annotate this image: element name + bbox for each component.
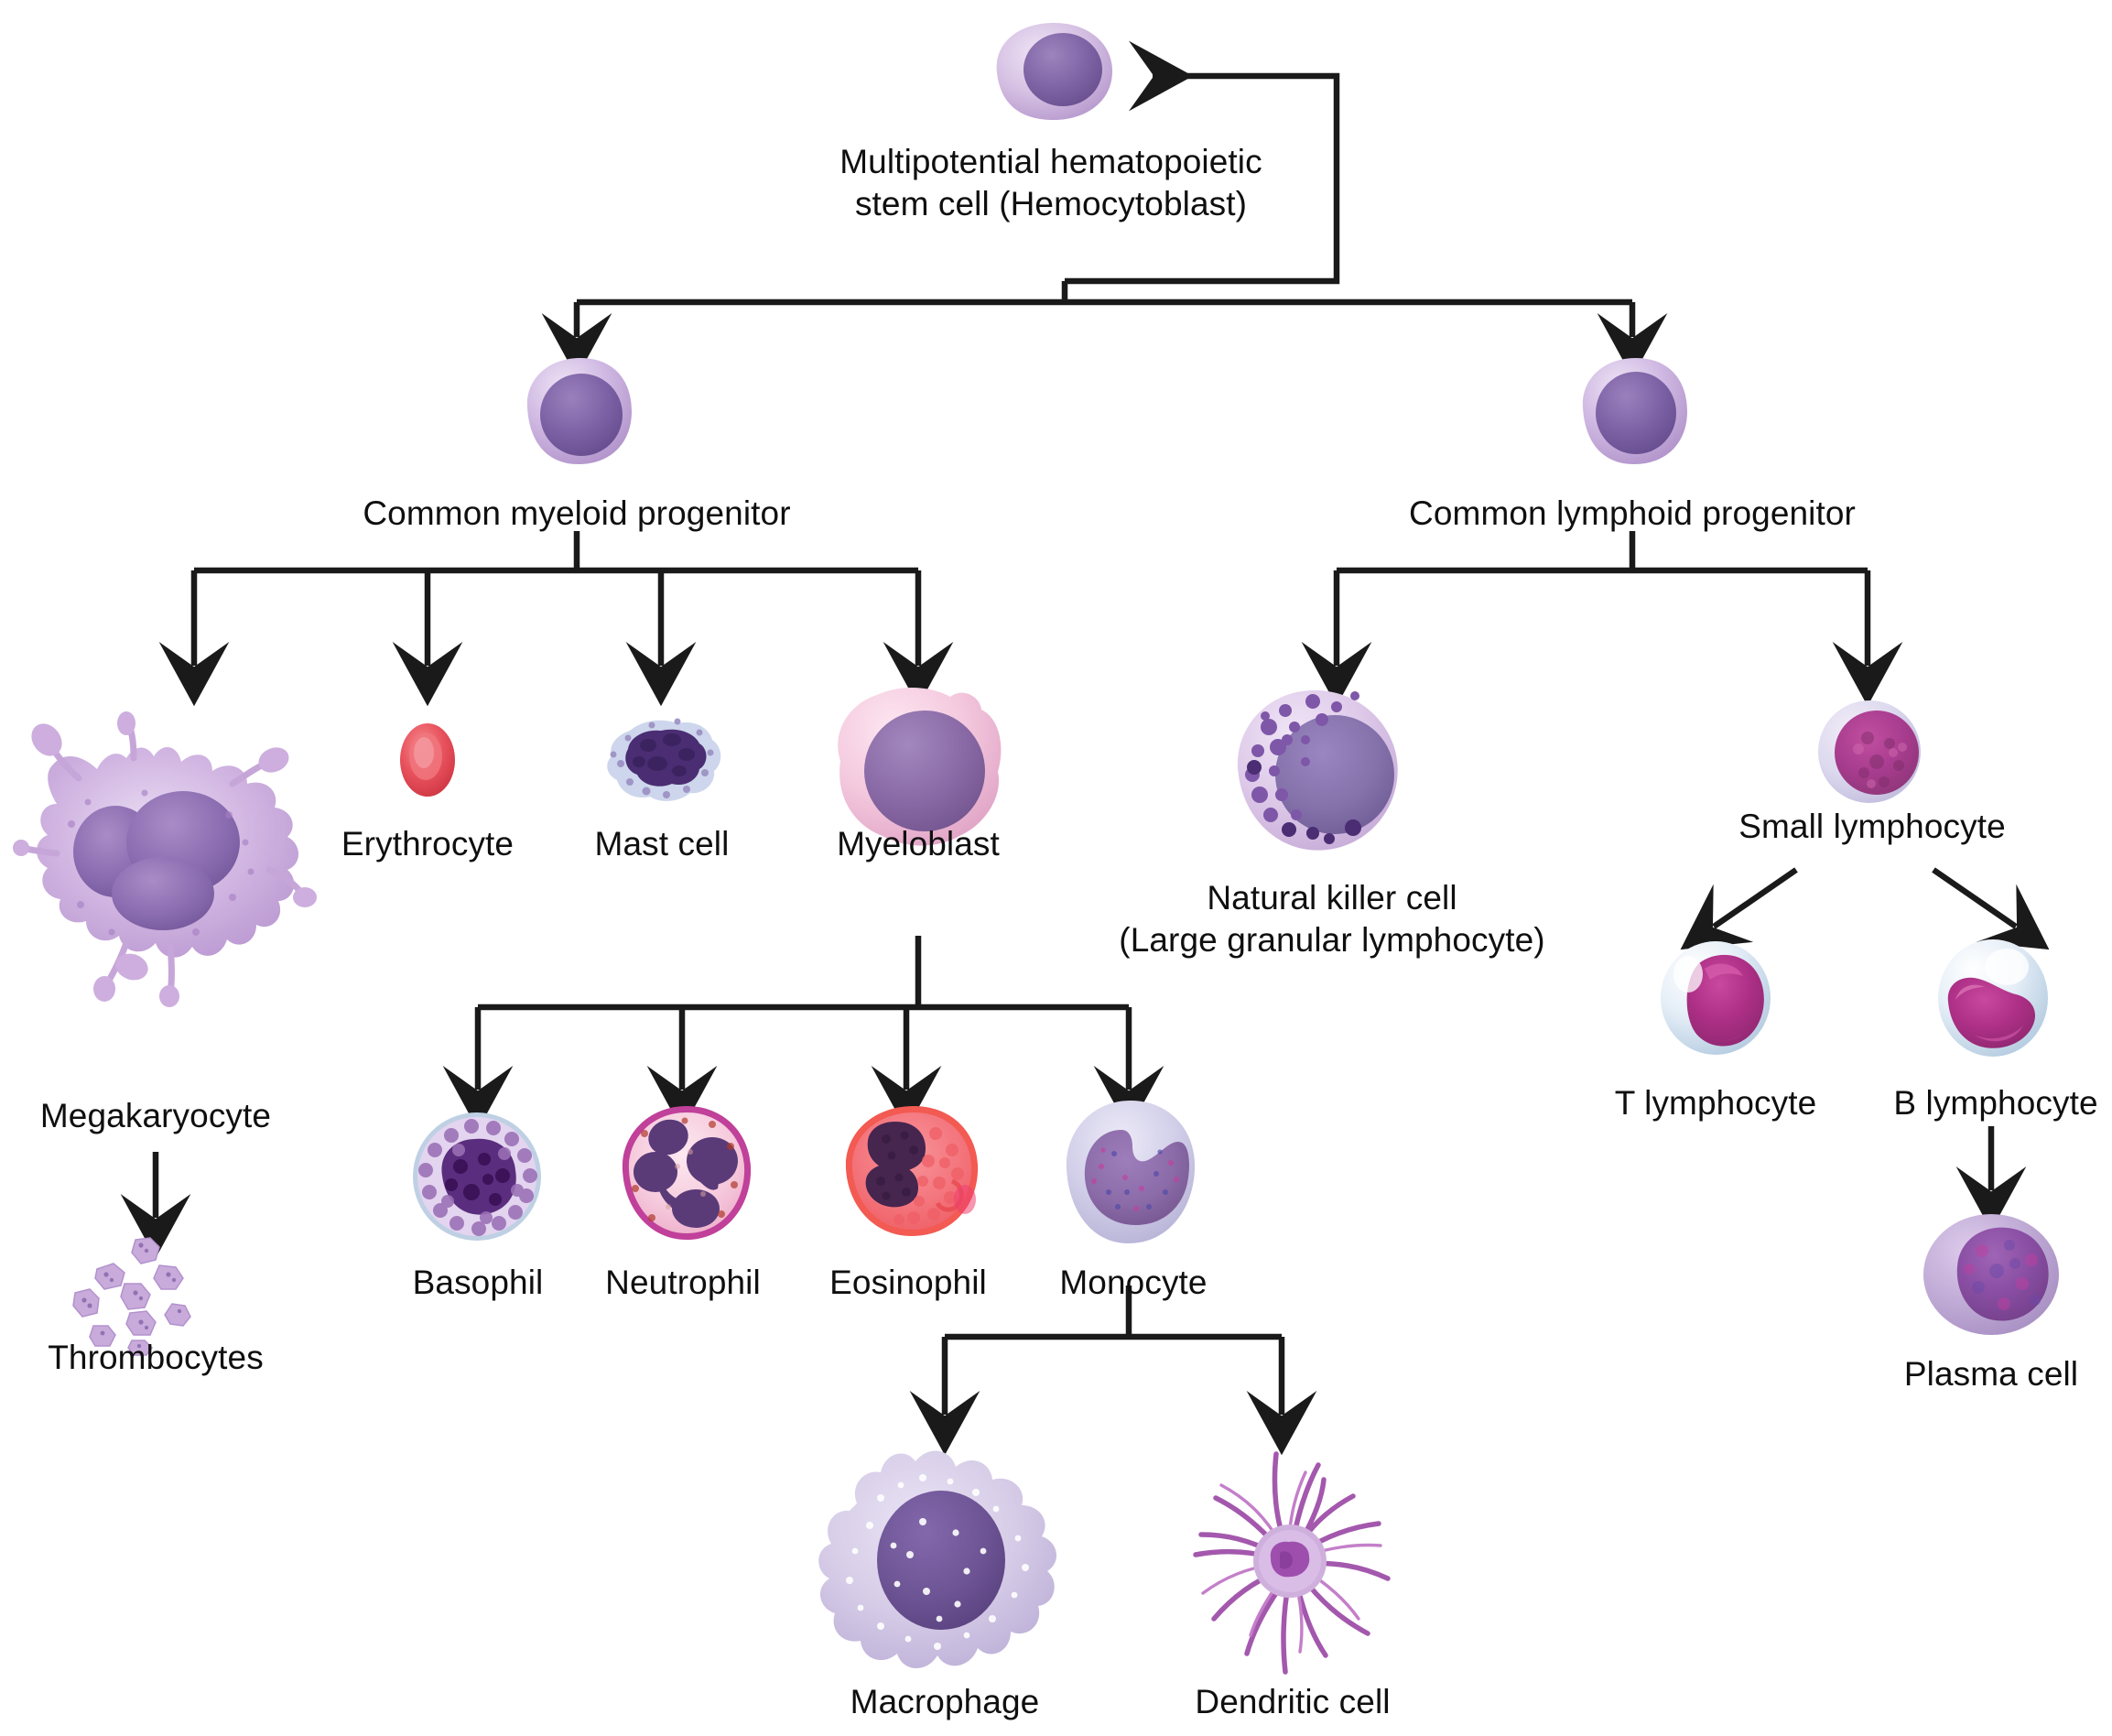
- t-lymphocyte-label: T lymphocyte: [1578, 1082, 1853, 1124]
- neutrophil-icon: [612, 1097, 762, 1249]
- lymphoid-progenitor-label: Common lymphoid progenitor: [1358, 493, 1907, 535]
- myeloid-progenitor-label: Common myeloid progenitor: [302, 493, 851, 535]
- erythrocyte-label: Erythrocyte: [290, 823, 565, 865]
- mast-cell-label: Mast cell: [525, 823, 799, 865]
- small-lymphocyte-icon: [1813, 696, 1926, 808]
- neutrophil-label: Neutrophil: [555, 1262, 811, 1304]
- macrophage-icon: [813, 1438, 1075, 1694]
- myeloblast-label: Myeloblast: [781, 823, 1056, 865]
- myeloid-progenitor-icon: [514, 353, 643, 470]
- natural-killer-cell-icon: [1227, 679, 1410, 861]
- edge-to-t-lymphocyte: [1714, 870, 1796, 927]
- dendritic-cell-label: Dendritic cell: [1155, 1681, 1430, 1723]
- stem-cell-label: Multipotential hematopoietic stem cell (…: [776, 141, 1326, 225]
- macrophage-label: Macrophage: [807, 1681, 1082, 1723]
- dendritic-cell-icon: [1164, 1445, 1412, 1685]
- megakaryocyte-icon: [16, 714, 319, 1154]
- monocyte-icon: [1057, 1090, 1204, 1253]
- hematopoiesis-diagram: Multipotential hematopoietic stem cell (…: [0, 0, 2112, 1736]
- thrombocytes-label: Thrombocytes: [9, 1337, 302, 1379]
- mast-cell-icon: [597, 712, 727, 808]
- basophil-icon: [407, 1108, 547, 1245]
- small-lymphocyte-label: Small lymphocyte: [1721, 806, 2023, 848]
- stem-cell-icon: [984, 16, 1121, 126]
- b-lymphocyte-icon: [1932, 934, 2054, 1062]
- eosinophil-label: Eosinophil: [780, 1262, 1036, 1304]
- b-lymphocyte-label: B lymphocyte: [1858, 1082, 2112, 1124]
- plasma-cell-icon: [1918, 1207, 2064, 1344]
- plasma-cell-label: Plasma cell: [1854, 1353, 2112, 1395]
- edge-to-b-lymphocyte: [1933, 870, 2016, 927]
- megakaryocyte-label: Megakaryocyte: [9, 1095, 302, 1137]
- t-lymphocyte-icon: [1655, 936, 1776, 1060]
- lymphoid-progenitor-icon: [1570, 353, 1698, 470]
- erythrocyte-icon: [391, 716, 464, 804]
- monocyte-label: Monocyte: [1005, 1262, 1262, 1304]
- natural-killer-cell-label: Natural killer cell (Large granular lymp…: [1057, 877, 1607, 961]
- eosinophil-icon: [837, 1097, 987, 1245]
